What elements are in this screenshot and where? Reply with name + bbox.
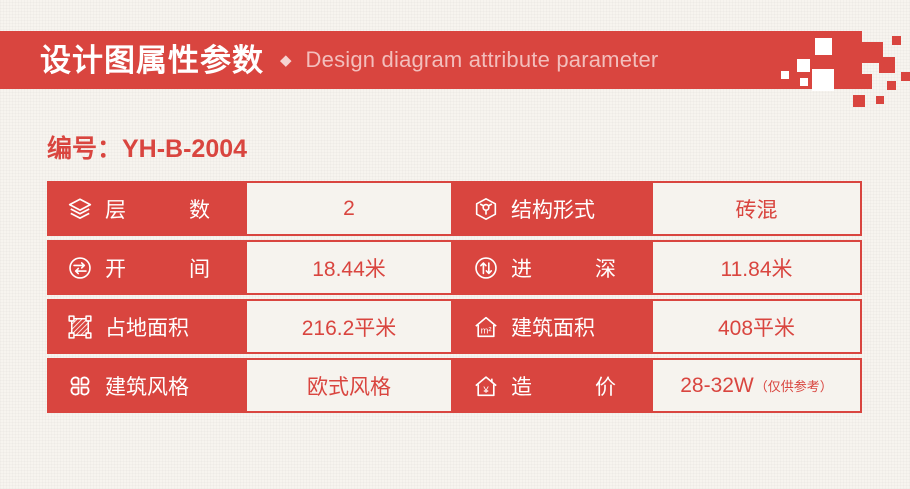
table-label-text: 进 深 — [511, 253, 616, 283]
svg-text:¥: ¥ — [482, 384, 489, 395]
table-cell-label: 建筑风格 — [47, 358, 245, 413]
table-cell-value: 砖混 — [651, 181, 862, 236]
table-label-text: 建筑风格 — [105, 371, 189, 401]
table-cell-value: 11.84米 — [651, 240, 862, 295]
decorative-square — [857, 74, 872, 89]
decorative-square — [901, 72, 910, 81]
width-arrows-icon — [67, 255, 93, 281]
decorative-square — [876, 96, 884, 104]
layers-icon — [67, 196, 93, 222]
cube-icon — [473, 196, 499, 222]
table-label-text: 占地面积 — [105, 312, 189, 342]
decorative-square — [845, 60, 859, 74]
table-cell-label: 开 间 — [47, 240, 245, 295]
table-label-text: 层 数 — [105, 194, 210, 224]
table-cell-label: 层 数 — [47, 181, 245, 236]
house-yuan-icon: ¥ — [473, 373, 499, 399]
svg-text:m²: m² — [481, 325, 492, 335]
decorative-square — [797, 59, 810, 72]
house-sqm-icon: m² — [473, 314, 499, 340]
table-cell-label: 结构形式 — [453, 181, 651, 236]
table-label-text: 开 间 — [105, 253, 210, 283]
price-note: （仅供参考） — [755, 376, 833, 395]
table-cell-value: 欧式风格 — [245, 358, 453, 413]
table-cell-value: 2 — [245, 181, 453, 236]
decorative-square — [887, 81, 896, 90]
table-cell-value: 216.2平米 — [245, 299, 453, 354]
page-title: 设计图属性参数 — [40, 45, 264, 76]
decorative-square — [853, 95, 865, 107]
table-label-text: 建筑面积 — [511, 312, 595, 342]
decorative-square — [879, 57, 895, 73]
table-cell-label: m² 建筑面积 — [453, 299, 651, 354]
page-subtitle: Design diagram attribute parameter — [306, 47, 659, 73]
table-cell-value: 28-32W（仅供参考） — [651, 358, 862, 413]
design-code: 编号：YH-B-2004 — [47, 129, 247, 165]
table-cell-label: ¥ 造 价 — [453, 358, 651, 413]
table-cell-value: 408平米 — [651, 299, 862, 354]
table-label-text: 结构形式 — [511, 194, 595, 224]
attributes-table: 层 数 2 结构形式 砖混 开 间 18.44米 — [47, 181, 862, 413]
table-cell-value: 18.44米 — [245, 240, 453, 295]
decorative-square — [812, 69, 834, 91]
decorative-square — [781, 71, 789, 79]
land-area-icon — [67, 314, 93, 340]
table-label-text: 造 价 — [511, 371, 616, 401]
table-cell-label: 进 深 — [453, 240, 651, 295]
header-banner: 设计图属性参数 ◆ Design diagram attribute param… — [0, 31, 862, 89]
style-grid-icon — [67, 373, 93, 399]
price-value: 28-32W — [680, 374, 754, 398]
table-cell-label: 占地面积 — [47, 299, 245, 354]
diamond-separator-icon: ◆ — [280, 53, 292, 68]
decorative-square — [892, 36, 901, 45]
decorative-square — [815, 38, 832, 55]
decorative-square — [800, 78, 808, 86]
depth-arrows-icon — [473, 255, 499, 281]
